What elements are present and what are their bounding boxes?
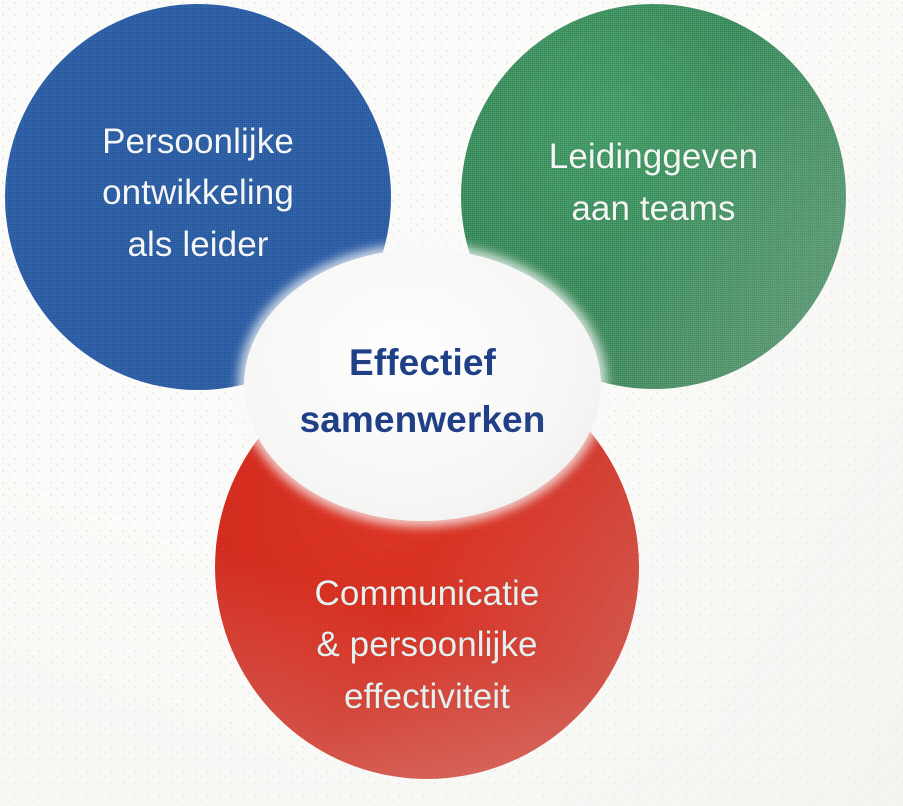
venn-diagram-canvas: Persoonlijke ontwikkeling als leider Lei… [0,0,903,806]
venn-circle-label-leidinggeven-aan-teams: Leidinggeven aan teams [539,131,768,233]
venn-circle-effectief-samenwerken[interactable]: Effectief samenwerken [244,249,601,521]
venn-circle-label-effectief-samenwerken: Effectief samenwerken [290,334,556,449]
venn-circle-label-communicatie-effectiviteit: Communicatie & persoonlijke effectivitei… [305,568,550,721]
venn-circle-label-persoonlijke-ontwikkeling: Persoonlijke ontwikkeling als leider [92,116,304,269]
